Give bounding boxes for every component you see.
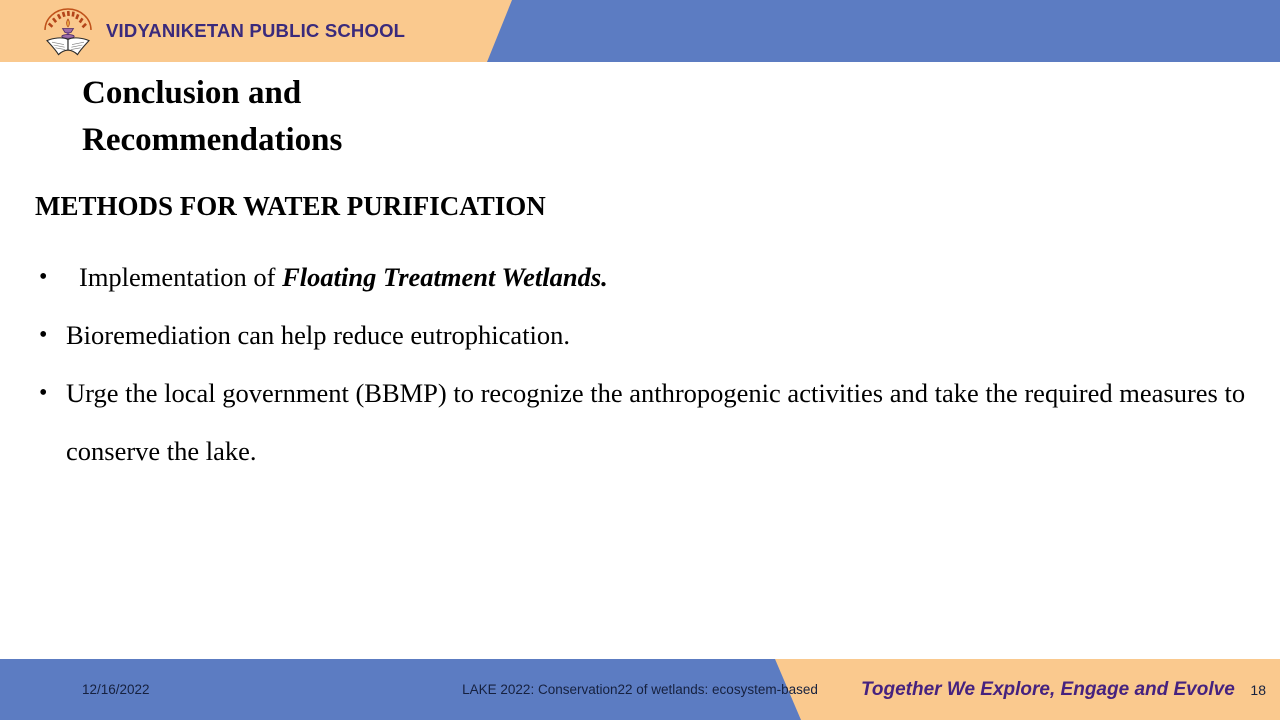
bullet-list: • Implementation of Floating Treatment W… — [35, 248, 1250, 480]
bullet-marker: • — [39, 248, 47, 306]
page-title-line-2: Recommendations — [82, 117, 642, 164]
bullet-marker: • — [39, 306, 47, 364]
bullet-marker: • — [39, 364, 47, 422]
section-heading: METHODS FOR WATER PURIFICATION — [35, 189, 546, 223]
list-item-text: Urge the local government (BBMP) to reco… — [66, 378, 1245, 466]
list-item: •Bioremediation can help reduce eutrophi… — [35, 306, 1250, 364]
footer-date: 12/16/2022 — [82, 659, 150, 720]
footer-tagline: Together We Explore, Engage and Evolve — [861, 659, 1235, 720]
list-item-text: Implementation of — [79, 262, 282, 292]
list-item: • Implementation of Floating Treatment W… — [35, 248, 1250, 306]
list-item: •Urge the local government (BBMP) to rec… — [35, 364, 1250, 480]
list-item-emphasis: Floating Treatment Wetlands. — [282, 262, 608, 292]
page-title: Conclusion and Recommendations — [82, 70, 642, 164]
slide-footer: 12/16/2022 LAKE 2022: Conservation22 of … — [0, 659, 1280, 720]
page-number: 18 — [1250, 659, 1266, 720]
brand-lockup: VIDYANIKETAN PUBLIC SCHOOL — [40, 0, 405, 62]
page-title-line-1: Conclusion and — [82, 70, 642, 117]
slide-header: VIDYANIKETAN PUBLIC SCHOOL — [0, 0, 1280, 62]
list-item-text: Bioremediation can help reduce eutrophic… — [66, 320, 570, 350]
presentation-slide: VIDYANIKETAN PUBLIC SCHOOL Conclusion an… — [0, 0, 1280, 720]
brand-name: VIDYANIKETAN PUBLIC SCHOOL — [106, 20, 405, 42]
school-crest-open-book-lamp-icon — [40, 4, 96, 58]
